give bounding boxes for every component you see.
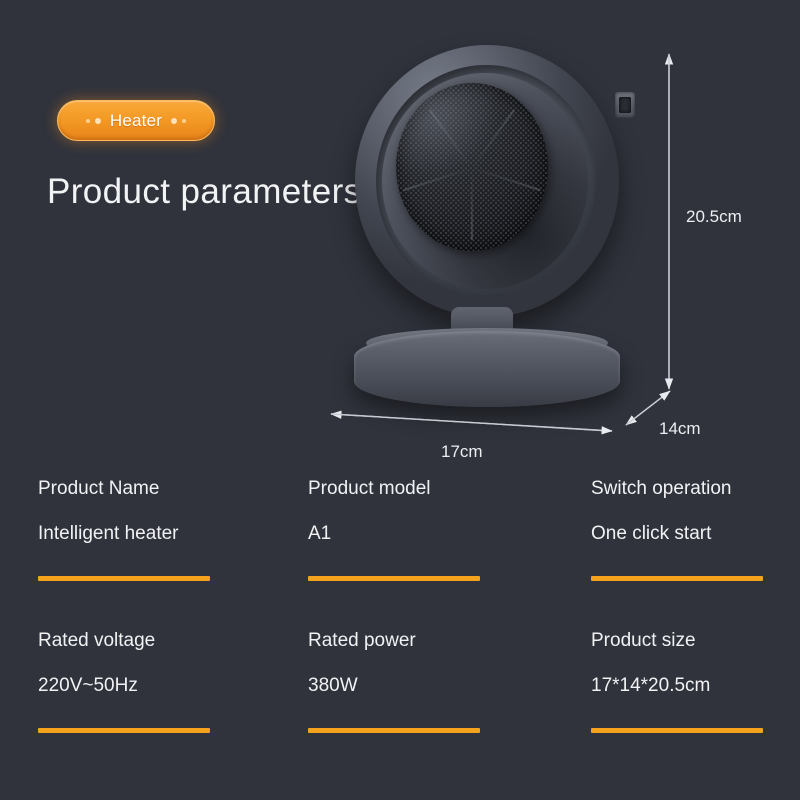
badge-dots-left [86,118,101,124]
spec-value: 220V~50Hz [38,675,288,697]
spec-table: Product Name Intelligent heater Product … [0,478,800,782]
heater-base [354,331,620,407]
spec-underline [308,728,480,733]
badge-dot-large-icon [95,118,101,124]
spec-value: A1 [308,523,558,545]
spec-key: Product model [308,478,558,500]
product-image [330,35,630,405]
spec-key: Product Name [38,478,288,500]
spec-underline [38,728,210,733]
height-dimension-label: 20.5cm [686,207,742,227]
spec-underline [308,576,480,581]
spec-value: 380W [308,675,558,697]
spec-value: 17*14*20.5cm [591,675,800,697]
heater-grille [396,83,548,251]
spec-underline [38,576,210,581]
spec-cell-rated-voltage: Rated voltage 220V~50Hz [38,630,288,733]
spec-cell-product-model: Product model A1 [308,478,558,581]
spec-key: Rated voltage [38,630,288,652]
product-parameters-page: Heater Product parameters [0,0,800,800]
width-dimension-line-right [331,414,612,431]
spec-value: Intelligent heater [38,523,288,545]
spec-cell-switch-operation: Switch operation One click start [591,478,800,581]
badge-label: Heater [110,111,162,131]
spec-cell-product-size: Product size 17*14*20.5cm [591,630,800,733]
depth-dimension-label: 14cm [659,419,701,439]
heater-power-port [615,92,635,118]
badge-dot-large-icon [171,118,177,124]
spec-key: Product size [591,630,800,652]
spec-key: Rated power [308,630,558,652]
page-title: Product parameters [47,172,362,212]
badge-dot-small-icon [182,119,186,123]
heater-spoke [471,168,473,240]
badge-dot-small-icon [86,119,90,123]
spec-cell-product-name: Product Name Intelligent heater [38,478,288,581]
width-dimension-line-left [331,414,610,431]
spec-underline [591,576,763,581]
heater-badge: Heater [57,100,215,141]
spec-underline [591,728,763,733]
badge-dots-right [171,118,186,124]
spec-row: Product Name Intelligent heater Product … [0,478,800,630]
width-dimension-label: 17cm [441,442,483,462]
spec-row: Rated voltage 220V~50Hz Rated power 380W… [0,630,800,782]
spec-cell-rated-power: Rated power 380W [308,630,558,733]
spec-value: One click start [591,523,800,545]
spec-key: Switch operation [591,478,800,500]
